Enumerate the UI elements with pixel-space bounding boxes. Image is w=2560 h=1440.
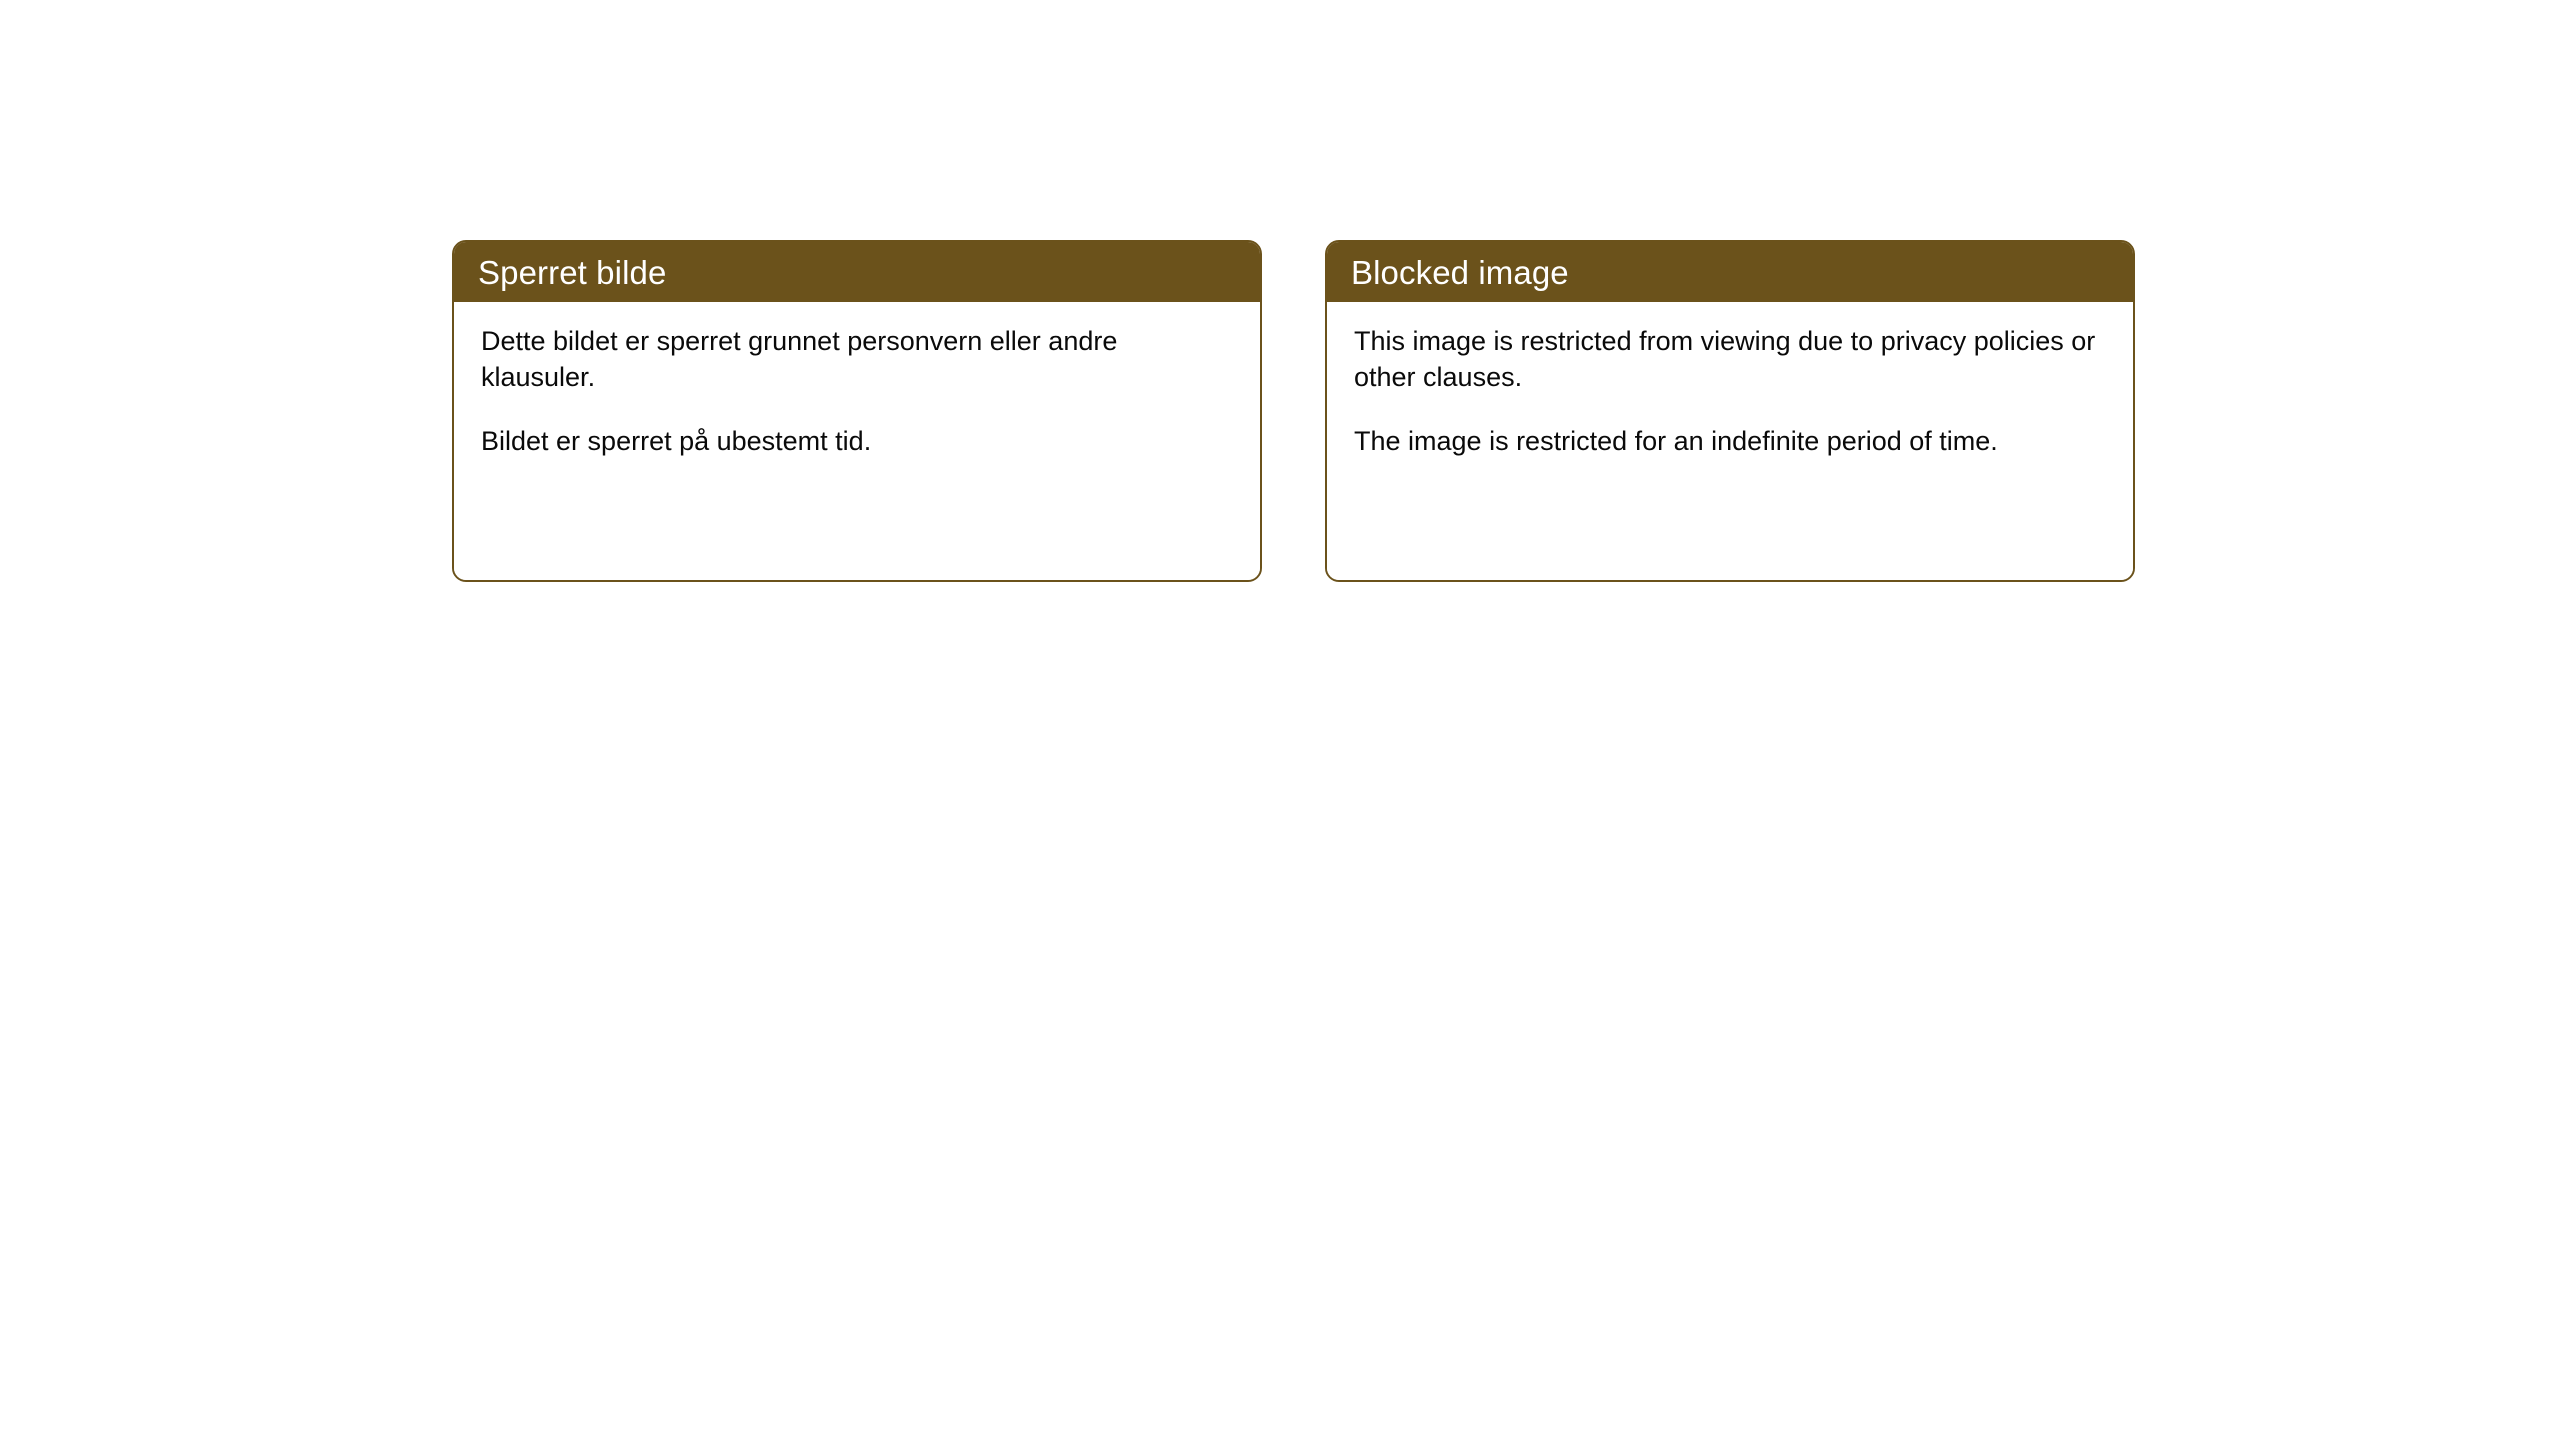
notice-card-header-norwegian: Sperret bilde <box>454 242 1260 302</box>
blocked-image-notice-card-english: Blocked image This image is restricted f… <box>1325 240 2135 582</box>
notice-card-title-norwegian: Sperret bilde <box>478 256 666 289</box>
page-root: Sperret bilde Dette bildet er sperret gr… <box>0 0 2560 1440</box>
notice-card-body-norwegian: Dette bildet er sperret grunnet personve… <box>454 302 1260 580</box>
notice-paragraph-duration-english: The image is restricted for an indefinit… <box>1354 424 2103 460</box>
notice-card-body-english: This image is restricted from viewing du… <box>1327 302 2133 580</box>
notice-paragraph-reason-english: This image is restricted from viewing du… <box>1354 324 2103 396</box>
notice-paragraph-duration-norwegian: Bildet er sperret på ubestemt tid. <box>481 424 1230 460</box>
blocked-image-notice-card-norwegian: Sperret bilde Dette bildet er sperret gr… <box>452 240 1262 582</box>
notice-card-title-english: Blocked image <box>1351 256 1569 289</box>
notice-card-header-english: Blocked image <box>1327 242 2133 302</box>
notice-paragraph-reason-norwegian: Dette bildet er sperret grunnet personve… <box>481 324 1230 396</box>
